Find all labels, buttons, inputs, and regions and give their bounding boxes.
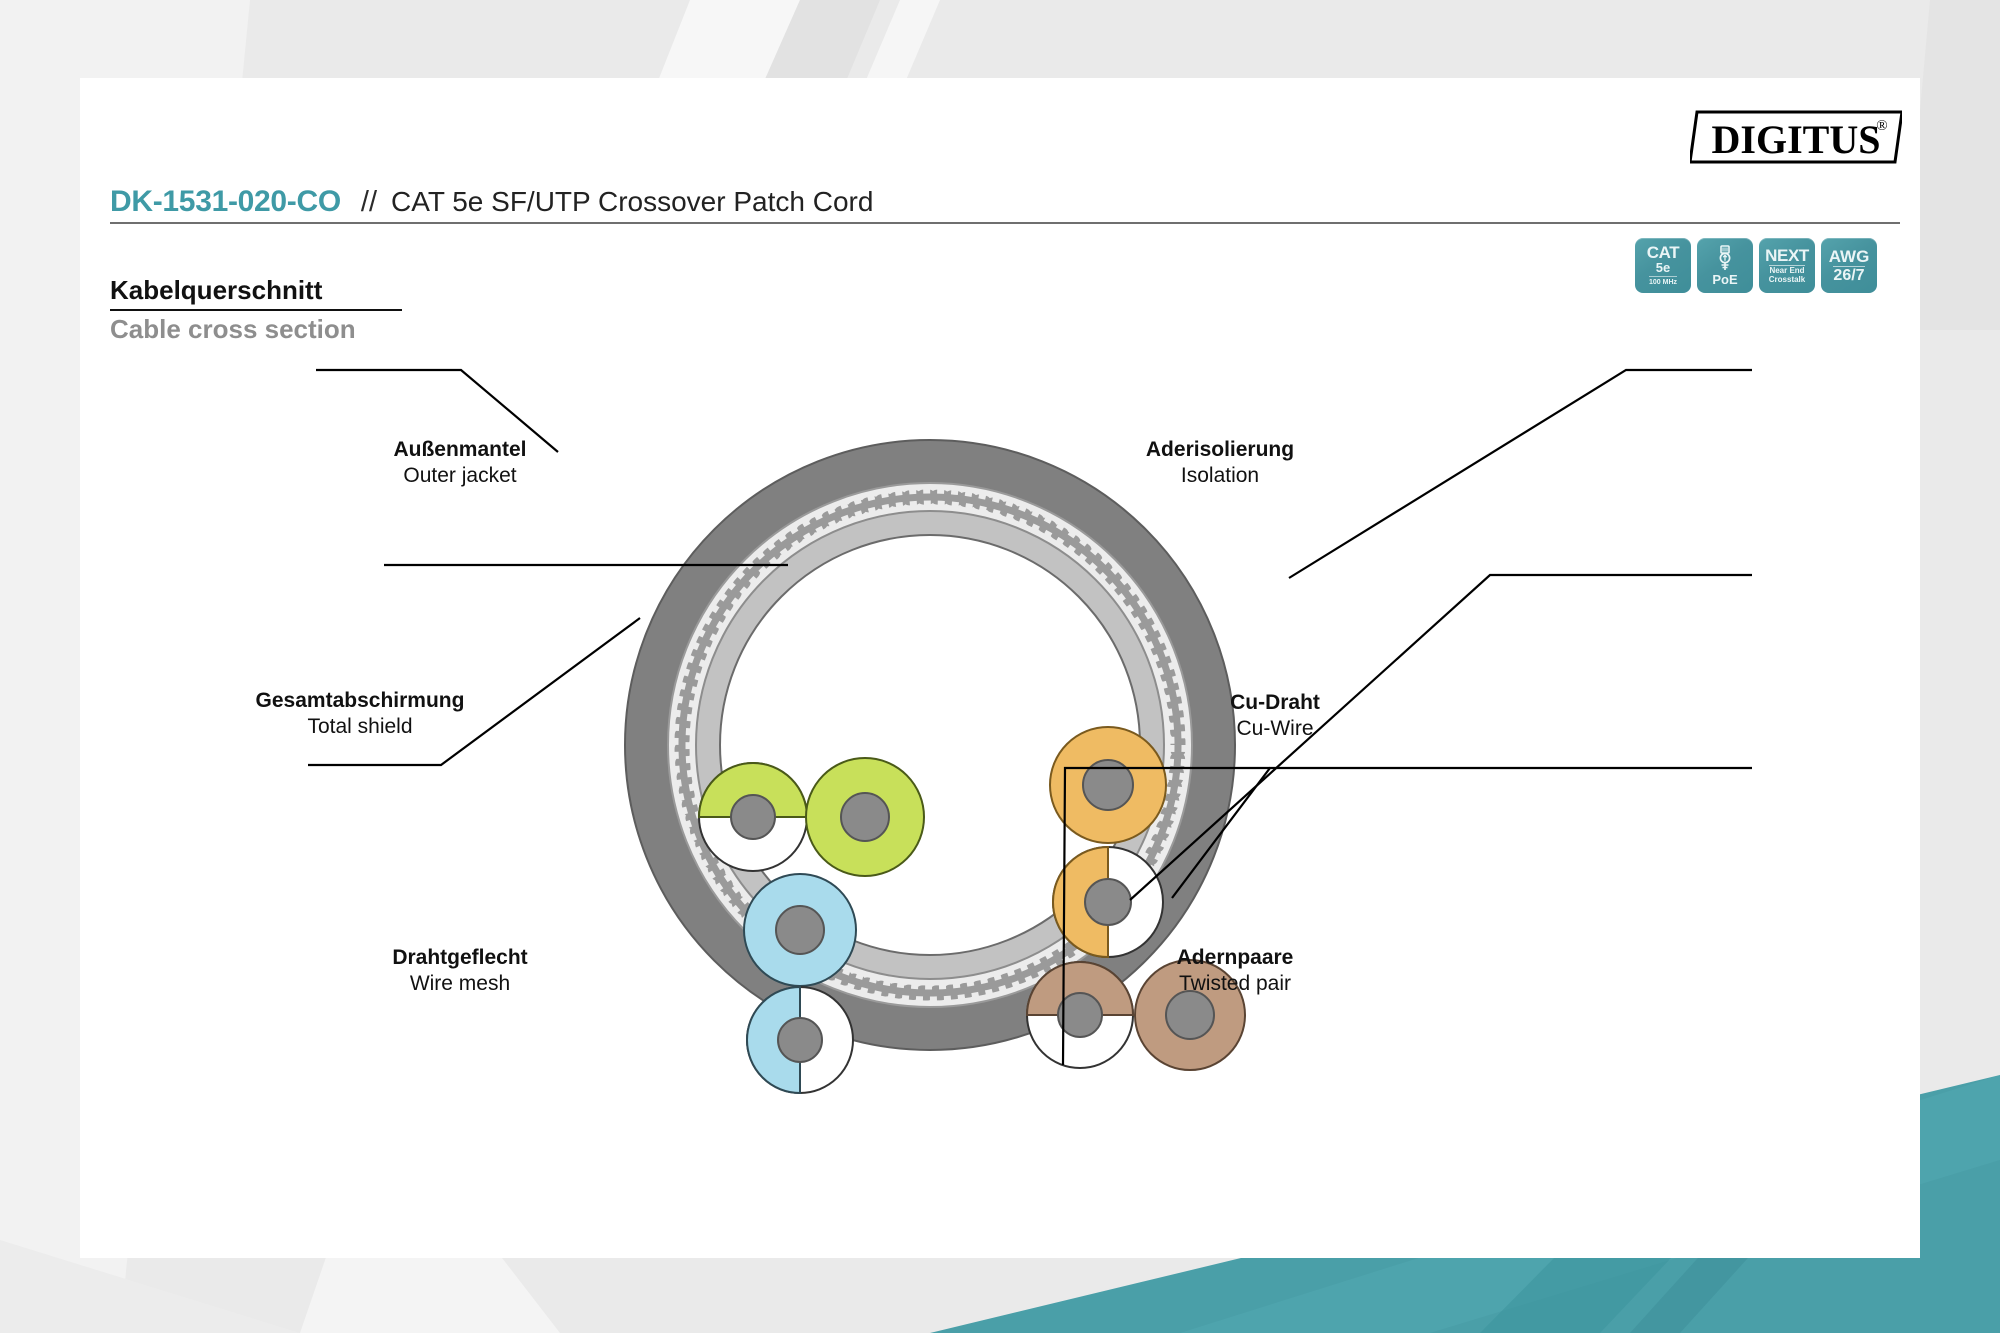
poe-badge: PoE: [1697, 238, 1753, 293]
cat-badge: CAT 5e 100 MHz: [1635, 238, 1691, 293]
orange-solid-wire: [1050, 727, 1166, 843]
awg-badge-line2: 26/7: [1833, 266, 1864, 284]
title-divider: [110, 222, 1900, 224]
awg-badge: AWG 26/7: [1821, 238, 1877, 293]
cu-wire-conductor: [1085, 879, 1131, 925]
blue-striped-wire: [747, 987, 853, 1093]
next-badge-line3: Crosstalk: [1769, 276, 1805, 284]
callout-twisted-pair: Adernpaare Twisted pair: [1100, 945, 1370, 996]
digitus-logo: DIGITUS ®: [1690, 108, 1902, 166]
callout-cu-wire-de: Cu-Draht: [1140, 690, 1410, 716]
spec-badges: CAT 5e 100 MHz PoE NEXT Near End Crossta…: [1635, 238, 1877, 293]
blue-solid-wire: [744, 874, 856, 986]
callout-cu-wire-en: Cu-Wire: [1140, 716, 1410, 742]
next-badge: NEXT Near End Crosstalk: [1759, 238, 1815, 293]
green-striped-wire: [699, 763, 807, 871]
cat-badge-line3: 100 MHz: [1649, 276, 1677, 286]
cu-wire-conductor: [841, 793, 889, 841]
callout-outer-jacket-en: Outer jacket: [330, 463, 590, 489]
rj45-plug-icon: [1716, 245, 1734, 271]
callout-total-shield-de: Gesamtabschirmung: [215, 688, 505, 714]
callout-wire-mesh-de: Drahtgeflecht: [330, 945, 590, 971]
green-solid-wire: [806, 758, 924, 876]
callout-total-shield: Gesamtabschirmung Wire mesh Total shield: [215, 688, 505, 739]
callout-wire-mesh-en: Wire mesh: [330, 971, 590, 997]
cu-wire-conductor: [776, 906, 824, 954]
page-title: DK-1531-020-CO // CAT 5e SF/UTP Crossove…: [110, 185, 1900, 225]
callout-isolation-de: Aderisolierung: [1075, 437, 1365, 463]
cu-wire-conductor: [731, 795, 775, 839]
callout-isolation-en: Isolation: [1075, 463, 1365, 489]
cat-badge-line1: CAT: [1647, 244, 1679, 261]
awg-badge-line1: AWG: [1829, 248, 1870, 265]
digitus-logo-svg: DIGITUS ®: [1690, 108, 1902, 166]
callout-twisted-pair-de: Adernpaare: [1100, 945, 1370, 971]
callout-twisted-pair-en: Twisted pair: [1100, 971, 1370, 997]
orange-striped-wire: [1053, 847, 1163, 957]
cu-wire-conductor: [1166, 991, 1214, 1039]
product-sku: DK-1531-020-CO: [110, 185, 341, 219]
title-separator: //: [361, 186, 377, 219]
cat-badge-line2: 5e: [1656, 261, 1670, 274]
callout-wire-mesh: Drahtgeflecht Wire mesh: [330, 945, 590, 996]
product-description: CAT 5e SF/UTP Crossover Patch Cord: [391, 186, 873, 218]
callout-outer-jacket-de: Außenmantel: [330, 437, 590, 463]
section-title-de: Kabelquerschnitt: [110, 275, 402, 306]
cu-wire-conductor: [1058, 993, 1102, 1037]
callout-isolation: Aderisolierung Isolation: [1075, 437, 1365, 488]
callout-total-shield-en2: Total shield: [215, 714, 505, 740]
poe-badge-label: PoE: [1712, 273, 1737, 286]
leader-twisted-pair-a: [1172, 768, 1752, 898]
section-divider: [110, 309, 402, 311]
next-badge-line2: Near End: [1769, 265, 1804, 275]
next-badge-line1: NEXT: [1765, 247, 1809, 264]
callout-cu-wire: Cu-Draht Cu-Wire: [1140, 690, 1410, 741]
cu-wire-conductor: [778, 1018, 822, 1062]
registered-mark-icon: ®: [1876, 118, 1887, 134]
callout-outer-jacket: Außenmantel Outer jacket: [330, 437, 590, 488]
digitus-logo-text: DIGITUS: [1712, 117, 1881, 162]
